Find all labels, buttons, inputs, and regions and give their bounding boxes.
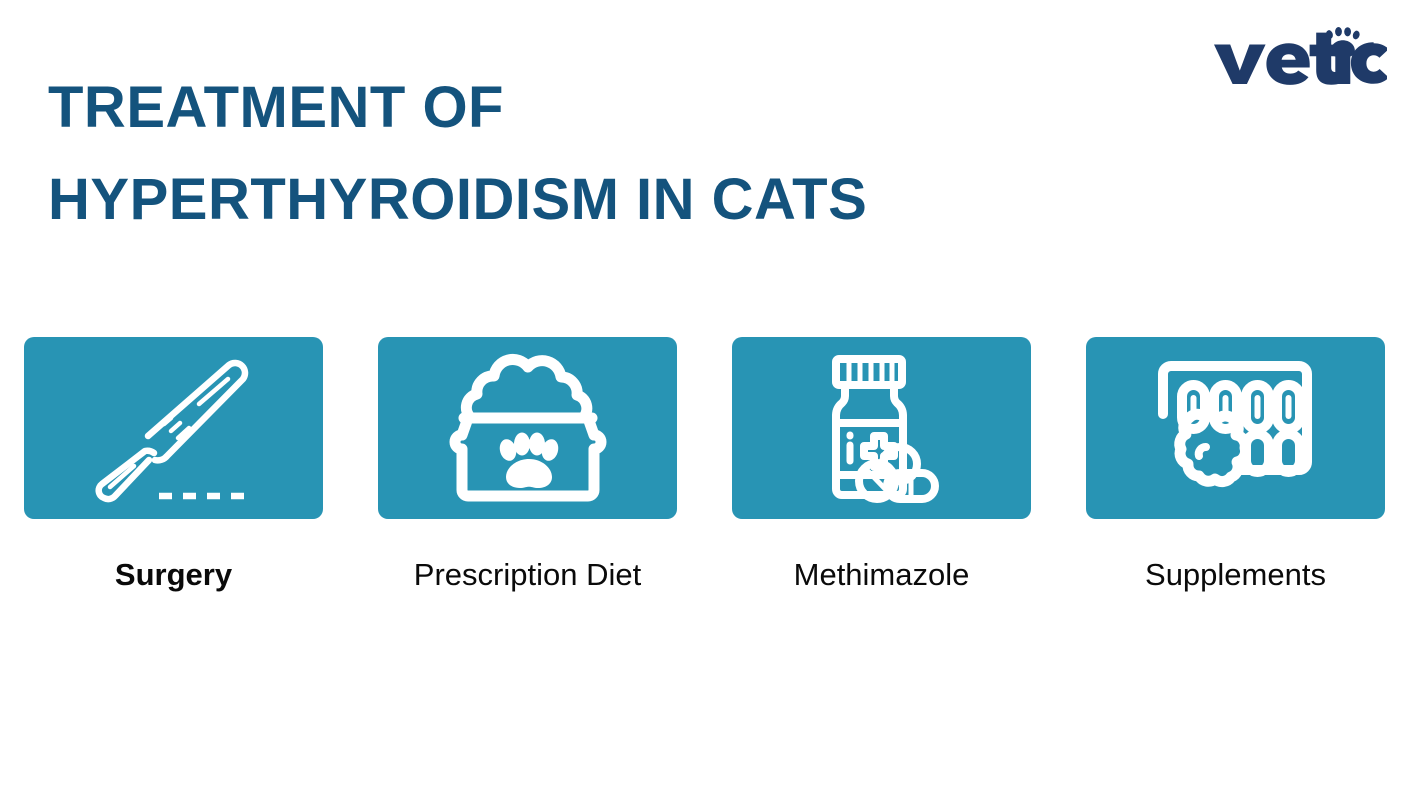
pill-bottle-icon	[792, 351, 972, 506]
treatment-card-methimazole[interactable]: Methimazole	[732, 337, 1031, 599]
page-title: TREATMENT OF HYPERTHYROIDISM IN CATS	[48, 62, 1058, 245]
methimazole-tile[interactable]	[732, 337, 1031, 519]
treatment-card-label: Prescription Diet	[383, 551, 673, 599]
blister-pack-icon	[1141, 352, 1331, 504]
prescription-diet-tile[interactable]	[378, 337, 677, 519]
scalpel-icon	[79, 348, 269, 508]
treatment-card-prescription-diet[interactable]: Prescription Diet	[378, 337, 677, 599]
paw-print-icon	[497, 433, 560, 489]
pet-food-bowl-icon	[438, 352, 618, 504]
treatment-card-label: Methimazole	[737, 551, 1027, 599]
supplements-tile[interactable]	[1086, 337, 1385, 519]
treatment-card-row: Surgery	[24, 337, 1393, 599]
surgery-tile[interactable]	[24, 337, 323, 519]
treatment-card-label: Surgery	[29, 551, 319, 599]
vetic-logo	[1212, 24, 1387, 86]
treatment-card-label: Supplements	[1091, 551, 1381, 599]
treatment-card-supplements[interactable]: Supplements	[1086, 337, 1385, 599]
vetic-logo-mark	[1212, 24, 1387, 86]
treatment-card-surgery[interactable]: Surgery	[24, 337, 323, 599]
